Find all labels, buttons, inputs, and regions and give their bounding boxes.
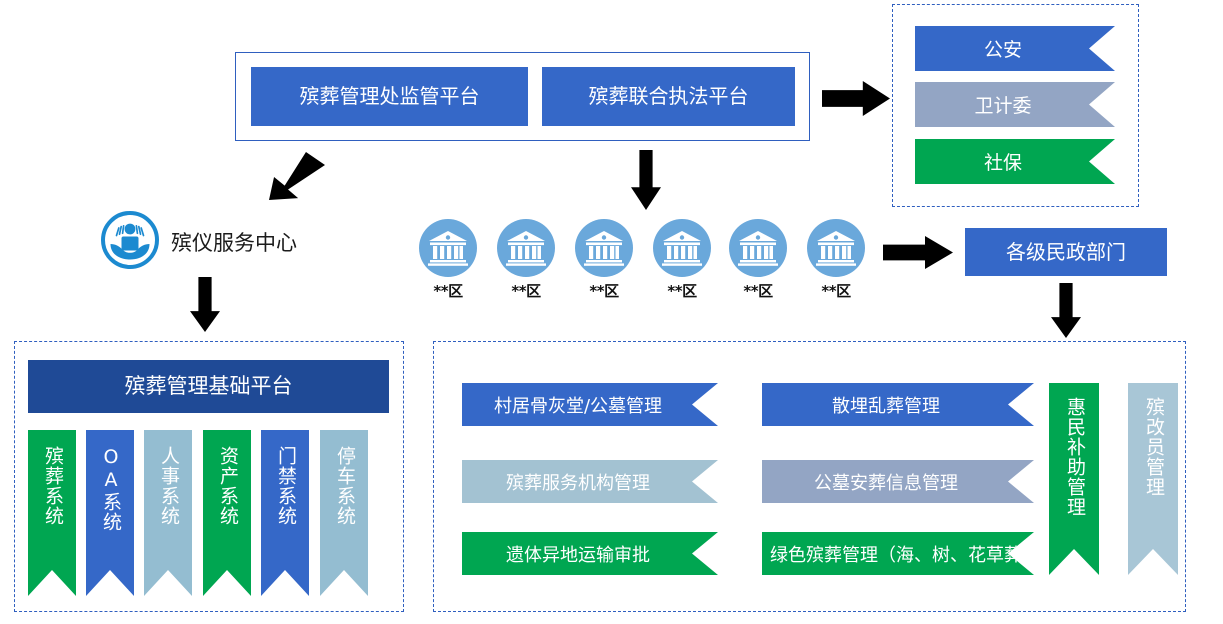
district-icon-6[interactable]: **区	[807, 219, 865, 301]
agency-ribbon-public-security[interactable]: 公安	[915, 26, 1115, 71]
arrow-top-to-agencies	[822, 81, 890, 116]
service-center-label: 殡仪服务中心	[171, 227, 297, 257]
architecture-diagram: 殡葬管理处监管平台 殡葬联合执法平台 公安 卫计委 社保	[0, 0, 1223, 624]
arrow-districts-to-civil-affairs	[883, 236, 953, 269]
module-label: 遗体异地运输审批	[506, 541, 650, 567]
module-label: 殡葬服务机构管理	[506, 469, 650, 495]
district-icon-1[interactable]: **区	[419, 219, 477, 301]
district-label: **区	[497, 280, 555, 301]
module-ribbon-body-transport-approval[interactable]: 遗体异地运输审批	[462, 532, 718, 575]
module-label: 散埋乱葬管理	[832, 392, 940, 418]
arrow-top-to-service-center	[269, 152, 325, 200]
district-label: **区	[807, 280, 865, 301]
module-ribbon-service-institution[interactable]: 殡葬服务机构管理	[462, 460, 718, 503]
civil-affairs-box[interactable]: 各级民政部门	[965, 228, 1167, 276]
government-building-icon	[653, 219, 711, 277]
district-label: **区	[575, 280, 633, 301]
agency-label: 社保	[984, 148, 1022, 175]
district-label: **区	[653, 280, 711, 301]
system-label: 资产系统	[217, 446, 237, 526]
arrow-top-to-districts	[631, 150, 661, 210]
government-building-icon	[575, 219, 633, 277]
platform-box-joint-enforcement[interactable]: 殡葬联合执法平台	[542, 67, 795, 126]
district-icon-4[interactable]: **区	[653, 219, 711, 301]
module-ribbon-cemetery-burial-info[interactable]: 公墓安葬信息管理	[762, 460, 1034, 503]
government-building-icon	[419, 219, 477, 277]
district-icon-3[interactable]: **区	[575, 219, 633, 301]
service-center-block: 殡仪服务中心	[101, 211, 297, 273]
system-label: 殡葬系统	[42, 446, 62, 526]
government-building-icon	[497, 219, 555, 277]
system-label: 人事系统	[158, 446, 178, 526]
funeral-service-center-logo	[101, 211, 159, 273]
platform-box-supervision[interactable]: 殡葬管理处监管平台	[251, 67, 528, 126]
arrow-service-center-to-base-platform	[190, 277, 220, 332]
district-icon-2[interactable]: **区	[497, 219, 555, 301]
district-label: **区	[419, 280, 477, 301]
government-building-icon	[807, 219, 865, 277]
government-building-icon	[729, 219, 787, 277]
module-ribbon-village-ossuary[interactable]: 村居骨灰堂/公墓管理	[462, 383, 718, 426]
base-platform-header: 殡葬管理基础平台	[28, 360, 389, 413]
district-label: **区	[729, 280, 787, 301]
agency-label: 卫计委	[974, 91, 1031, 118]
agency-label: 公安	[984, 35, 1022, 62]
module-label: 殡改员管理	[1143, 397, 1163, 497]
arrow-civil-affairs-to-business	[1051, 283, 1081, 338]
module-ribbon-scattered-burial[interactable]: 散埋乱葬管理	[762, 383, 1034, 426]
district-icon-5[interactable]: **区	[729, 219, 787, 301]
module-ribbon-subsidy-management[interactable]: 惠民补助管理	[1049, 383, 1099, 575]
module-label: 惠民补助管理	[1064, 397, 1084, 517]
agency-ribbon-health-commission[interactable]: 卫计委	[915, 82, 1115, 127]
module-label: 公墓安葬信息管理	[814, 469, 958, 495]
module-ribbon-reform-officer-management[interactable]: 殡改员管理	[1128, 383, 1178, 575]
module-label: 村居骨灰堂/公墓管理	[494, 392, 662, 418]
system-label: OA系统	[100, 446, 120, 532]
system-label: 门禁系统	[275, 446, 295, 526]
agency-ribbon-social-security[interactable]: 社保	[915, 139, 1115, 184]
module-label: 绿色殡葬管理（海、树、花草葬	[770, 541, 1022, 567]
system-label: 停车系统	[334, 446, 354, 526]
module-ribbon-green-funeral[interactable]: 绿色殡葬管理（海、树、花草葬	[762, 532, 1034, 575]
